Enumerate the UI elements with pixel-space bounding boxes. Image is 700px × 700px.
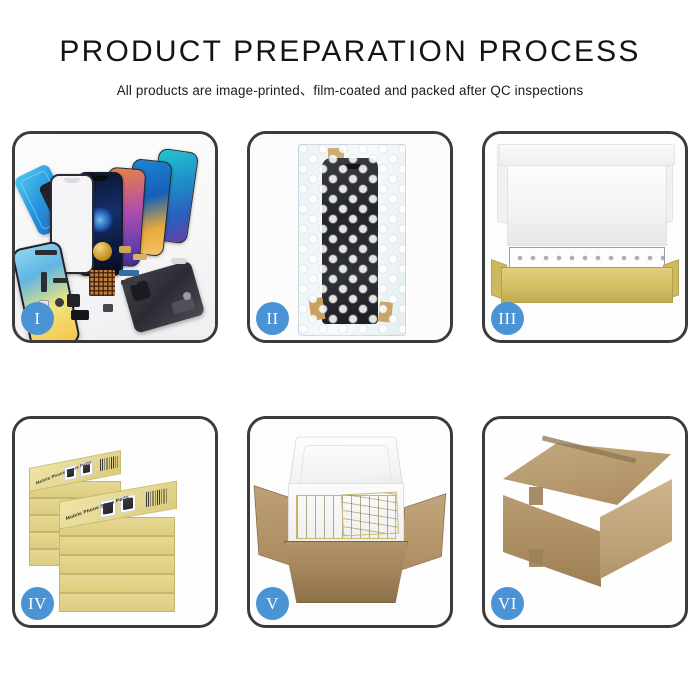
stacked-box-r3 [59, 555, 175, 574]
bubble-wrap-sleeve [298, 144, 406, 336]
bubble-wrap-edge [298, 144, 406, 336]
small-part-c [133, 254, 147, 260]
small-part-l [103, 304, 113, 312]
step-panel-6: VI [482, 416, 688, 628]
step-panel-3: III [482, 131, 688, 343]
step-badge-5: V [256, 587, 289, 620]
yellow-boxes-inside-right [341, 492, 399, 537]
step-badge-2: II [256, 302, 289, 335]
step-badge-3: III [491, 302, 524, 335]
small-part-m [171, 258, 187, 264]
step-panel-1: I [12, 131, 218, 343]
copper-chip-part [89, 270, 115, 296]
box-front-yellow [501, 267, 673, 303]
step-panel-2: II [247, 131, 453, 343]
gray-bubble-contents [509, 247, 665, 269]
camera-module-part [71, 310, 89, 320]
step-panel-5: V [247, 416, 453, 628]
stacked-box-r4 [59, 536, 175, 555]
screw-part [183, 292, 191, 300]
small-part-h [67, 294, 80, 307]
small-part-g [55, 298, 64, 307]
page-subtitle: All products are image-printed、film-coat… [0, 79, 700, 99]
steps-grid: I II [12, 131, 688, 628]
step-badge-1: I [21, 302, 54, 335]
box-barcode-right [146, 488, 168, 507]
box-lid-top-edge [499, 144, 675, 166]
small-part-j [121, 280, 137, 285]
stacked-box-r2 [59, 574, 175, 593]
header: PRODUCT PREPARATION PROCESS All products… [0, 0, 700, 99]
step-badge-6: VI [491, 587, 524, 620]
flex-cable-part [119, 270, 139, 276]
small-part-d [41, 272, 47, 292]
carton-tape-upper [529, 487, 543, 505]
small-part-a [35, 250, 57, 255]
step-badge-4: IV [21, 587, 54, 620]
speaker-coil-part [93, 242, 112, 261]
carton-body-open [284, 541, 408, 603]
small-part-b [119, 246, 131, 253]
small-part-e [53, 278, 67, 283]
step-panel-4: Mobile Phone Spare Parts Mobile Phone Sp… [12, 416, 218, 628]
box-barcode-left [100, 456, 118, 471]
carton-tape-lower [529, 549, 543, 567]
stacked-box-r1 [59, 593, 175, 612]
poster-canvas: PRODUCT PREPARATION PROCESS All products… [0, 0, 700, 700]
page-title: PRODUCT PREPARATION PROCESS [0, 36, 700, 68]
